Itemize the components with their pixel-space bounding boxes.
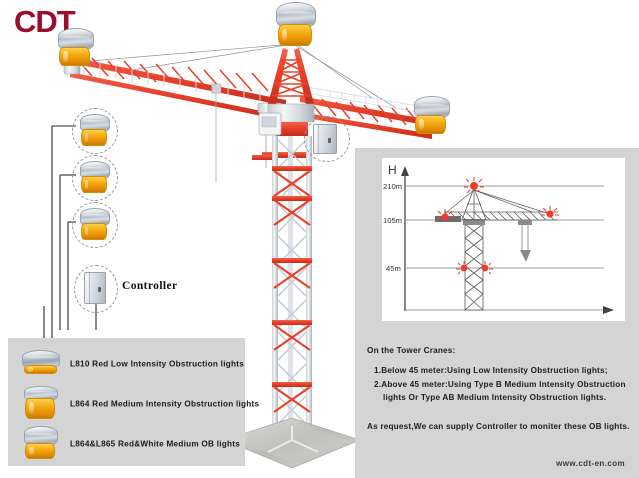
notes-line-1: 1.Below 45 meter:Using Low Intensity Obs… — [367, 364, 633, 377]
medium-intensity-beacon-icon — [24, 386, 58, 420]
website-url: www.cdt-en.com — [556, 459, 625, 468]
jib-tip-beacon — [414, 96, 450, 136]
legend-panel: L810 Red Low Intensity Obstruction light… — [8, 338, 245, 466]
red-white-medium-beacon-icon — [24, 426, 58, 460]
counter-jib-beacon — [58, 28, 94, 68]
controller-label: Controller — [122, 280, 178, 292]
y-axis-arrow — [401, 166, 409, 176]
schematic-jib — [444, 212, 558, 220]
notes-spacer — [367, 404, 633, 420]
notes-heading: On the Tower Cranes: — [367, 344, 633, 357]
y-axis-label: H — [388, 163, 397, 177]
crane-mast — [272, 136, 312, 436]
notes-line-2-continuation: lights Or Type AB Medium Intensity Obstr… — [374, 391, 633, 404]
schematic-hook-block — [520, 250, 531, 262]
x-axis-arrow — [603, 306, 614, 314]
beacon-base-icon — [81, 176, 107, 193]
callout-beacon-3 — [80, 208, 110, 241]
poster-canvas: CDT — [0, 0, 639, 478]
beacon-base-icon — [81, 223, 107, 240]
legend-item-label: L864&L865 Red&White Medium OB lights — [70, 440, 240, 449]
mast-apex-frame — [268, 48, 314, 104]
mast-top-beacon — [276, 2, 316, 48]
tick-label-210m: 210m — [383, 182, 402, 191]
tick-label-45m: 45m — [386, 264, 401, 273]
height-diagram-svg: H 210m 105m 45m — [382, 158, 625, 321]
controller-knob-icon — [98, 287, 101, 292]
info-panel: H 210m 105m 45m — [355, 148, 639, 478]
controller-knob-icon — [328, 138, 331, 143]
pendant-cables — [78, 44, 396, 108]
beacon-base-icon — [278, 24, 312, 46]
beacon-base-icon — [59, 47, 90, 66]
beacon-base-icon — [25, 398, 55, 419]
beacon-base-icon — [24, 365, 57, 374]
mast-controller-box-icon — [313, 124, 337, 154]
notes-line-3: As request,We can supply Controller to m… — [367, 420, 633, 433]
tick-label-105m: 105m — [383, 216, 402, 225]
callout-beacon-2 — [80, 161, 110, 194]
legend-item-label: L864 Red Medium Intensity Obstruction li… — [70, 400, 259, 409]
notes-block: On the Tower Cranes: 1.Below 45 meter:Us… — [367, 344, 633, 433]
legend-item-label: L810 Red Low Intensity Obstruction light… — [70, 360, 244, 369]
beacon-base-icon — [81, 129, 107, 146]
height-diagram: H 210m 105m 45m — [382, 158, 625, 321]
beacon-base-icon — [25, 443, 55, 459]
legend-item: L864 Red Medium Intensity Obstruction li… — [8, 386, 245, 422]
beacon-base-icon — [415, 115, 446, 134]
legend-item: L864&L865 Red&White Medium OB lights — [8, 426, 245, 462]
callout-beacon-1 — [80, 114, 110, 147]
notes-line-2: 2.Above 45 meter:Using Type B Medium Int… — [367, 378, 633, 391]
low-intensity-beacon-icon — [22, 350, 60, 376]
legend-item: L810 Red Low Intensity Obstruction light… — [8, 346, 245, 382]
schematic-mast — [465, 224, 483, 310]
diagram-beacon-45m-left — [456, 261, 467, 274]
schematic-trolley — [518, 220, 532, 225]
controller-box-icon — [84, 272, 106, 304]
